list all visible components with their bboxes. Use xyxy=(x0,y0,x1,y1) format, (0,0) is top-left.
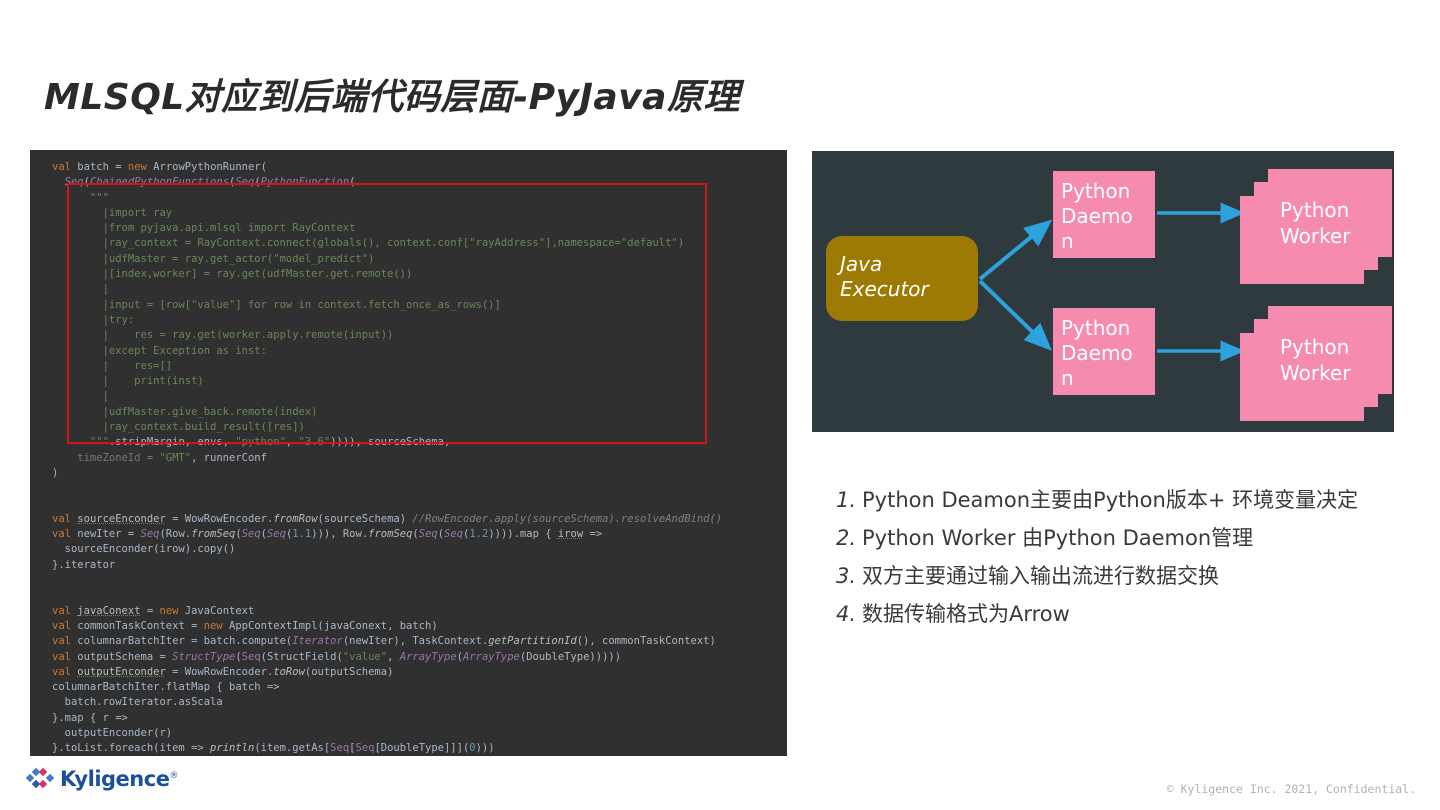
list-item-number: 4. xyxy=(836,600,862,628)
list-item: 2.Python Worker 由Python Daemon管理 xyxy=(836,524,1416,552)
code-line: |udfMaster = ray.get_actor("model_predic… xyxy=(52,252,722,267)
arrow-java-to-daemon-2 xyxy=(980,281,1048,347)
code-line: val javaConext = new JavaContext xyxy=(52,604,722,619)
code-line: |except Exception as inst: xyxy=(52,344,722,359)
list-item-text: 双方主要通过输入输出流进行数据交换 xyxy=(862,562,1416,590)
code-line: }.map { r => xyxy=(52,711,722,726)
code-line: outputEnconder(r) xyxy=(52,726,722,741)
list-item-text: Python Deamon主要由Python版本+ 环境变量决定 xyxy=(862,486,1416,514)
code-line: val outputEnconder = WowRowEncoder.toRow… xyxy=(52,665,722,680)
code-line: | xyxy=(52,282,722,297)
code-line xyxy=(52,497,722,512)
brand-logo: Kyligence® xyxy=(26,767,178,791)
code-line: }.iterator xyxy=(52,558,722,573)
list-item: 3.双方主要通过输入输出流进行数据交换 xyxy=(836,562,1416,590)
code-line: | print(inst) xyxy=(52,374,722,389)
code-line: |input = [row["value"] for row in contex… xyxy=(52,298,722,313)
code-line: |import ray xyxy=(52,206,722,221)
code-line: """.stripMargin, envs, "python", "3.6"))… xyxy=(52,435,722,450)
worker-2-line-1: Python xyxy=(1280,334,1390,360)
brand-logo-text: Kyligence® xyxy=(60,767,178,791)
daemon-2-line-1: Python xyxy=(1061,316,1155,341)
node-python-worker-2: Python Worker xyxy=(1240,306,1392,421)
registered-mark-icon: ® xyxy=(169,771,178,781)
node-python-daemon-1: Python Daemo n xyxy=(1053,171,1155,258)
daemon-2-line-2: Daemo xyxy=(1061,341,1155,366)
code-line: val sourceEnconder = WowRowEncoder.fromR… xyxy=(52,512,722,527)
worker-1-line-1: Python xyxy=(1280,197,1390,223)
list-item: 1.Python Deamon主要由Python版本+ 环境变量决定 xyxy=(836,486,1416,514)
worker-2-line-2: Worker xyxy=(1280,360,1390,386)
code-line: |udfMaster.give_back.remote(index) xyxy=(52,405,722,420)
numbered-list: 1.Python Deamon主要由Python版本+ 环境变量决定2.Pyth… xyxy=(836,486,1416,638)
java-executor-line-2: Executor xyxy=(840,277,978,302)
code-line: | res=[] xyxy=(52,359,722,374)
code-line: | res = ray.get(worker.apply.remote(inpu… xyxy=(52,328,722,343)
code-line: val columnarBatchIter = batch.compute(It… xyxy=(52,634,722,649)
node-python-worker-1: Python Worker xyxy=(1240,169,1392,284)
code-line: timeZoneId = "GMT", runnerConf xyxy=(52,451,722,466)
daemon-1-line-3: n xyxy=(1061,229,1155,254)
list-item-text: 数据传输格式为Arrow xyxy=(862,600,1416,628)
code-line xyxy=(52,481,722,496)
code-line: columnarBatchIter.flatMap { batch => xyxy=(52,680,722,695)
arrow-java-to-daemon-1 xyxy=(980,223,1048,279)
code-listing: val batch = new ArrowPythonRunner( Seq(C… xyxy=(52,160,722,756)
code-line: Seq(ChainedPythonFunctions(Seq(PythonFun… xyxy=(52,175,722,190)
daemon-2-line-3: n xyxy=(1061,366,1155,391)
code-line: """ xyxy=(52,191,722,206)
code-line: |ray_context = RayContext.connect(global… xyxy=(52,236,722,251)
code-line: |ray_context.build_result([res]) xyxy=(52,420,722,435)
footer-copyright: © Kyligence Inc. 2021, Confidential. xyxy=(1167,782,1416,796)
worker-1-line-2: Worker xyxy=(1280,223,1390,249)
java-executor-line-1: Java xyxy=(840,252,978,277)
code-line: val outputSchema = StructType(Seq(Struct… xyxy=(52,650,722,665)
code-line: batch.rowIterator.asScala xyxy=(52,695,722,710)
list-item-number: 2. xyxy=(836,524,862,552)
code-line xyxy=(52,573,722,588)
brand-name: Kyligence xyxy=(60,767,169,791)
code-line: val newIter = Seq(Row.fromSeq(Seq(Seq(1.… xyxy=(52,527,722,542)
architecture-diagram: Java Executor Python Daemo n Python Daem… xyxy=(812,151,1394,432)
list-item-number: 1. xyxy=(836,486,862,514)
list-item: 4.数据传输格式为Arrow xyxy=(836,600,1416,628)
daemon-1-line-2: Daemo xyxy=(1061,204,1155,229)
code-line: ) xyxy=(52,466,722,481)
code-line xyxy=(52,588,722,603)
code-line: sourceEnconder(irow).copy() xyxy=(52,542,722,557)
kyligence-diamond-icon xyxy=(26,767,56,791)
worker-2-label: Python Worker xyxy=(1280,334,1390,386)
code-line: |try: xyxy=(52,313,722,328)
list-item-number: 3. xyxy=(836,562,862,590)
page-title: MLSQL对应到后端代码层面-PyJava原理 xyxy=(44,68,740,120)
code-panel: val batch = new ArrowPythonRunner( Seq(C… xyxy=(30,150,787,756)
list-item-text: Python Worker 由Python Daemon管理 xyxy=(862,524,1416,552)
code-line: val batch = new ArrowPythonRunner( xyxy=(52,160,722,175)
worker-1-label: Python Worker xyxy=(1280,197,1390,249)
daemon-1-line-1: Python xyxy=(1061,179,1155,204)
node-python-daemon-2: Python Daemo n xyxy=(1053,308,1155,395)
code-line: |from pyjava.api.mlsql import RayContext xyxy=(52,221,722,236)
node-java-executor: Java Executor xyxy=(826,236,978,321)
code-line: |[index,worker] = ray.get(udfMaster.get.… xyxy=(52,267,722,282)
code-line: }.toList.foreach(item => println(item.ge… xyxy=(52,741,722,756)
code-line: | xyxy=(52,389,722,404)
code-line: val commonTaskContext = new AppContextIm… xyxy=(52,619,722,634)
